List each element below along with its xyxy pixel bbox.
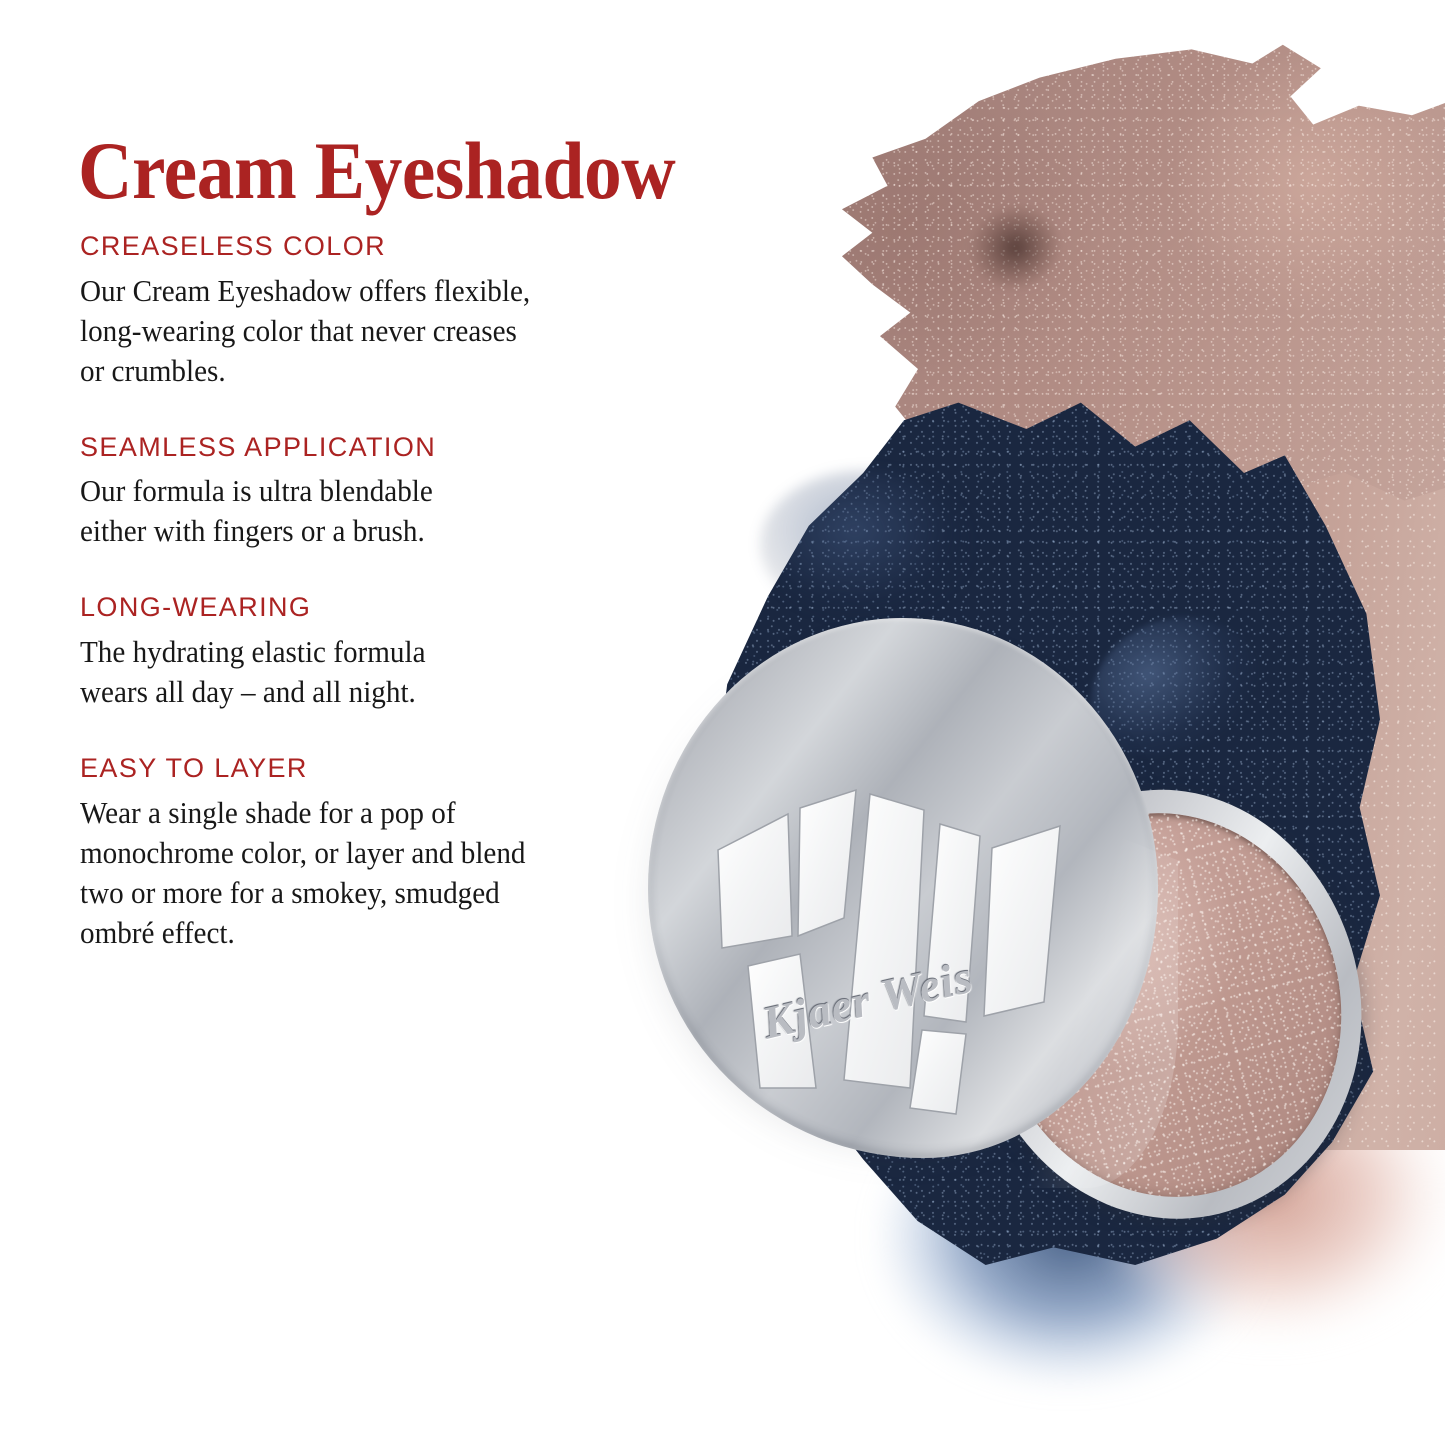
feature-body: The hydrating elastic formula wears all … bbox=[80, 632, 635, 712]
feature-body: Our formula is ultra blendable either wi… bbox=[80, 471, 635, 551]
rose-swatch-notch bbox=[949, 180, 1097, 322]
compact-lid-surface bbox=[648, 618, 1158, 1158]
brand-engraving: Kjaer Weis bbox=[757, 939, 1022, 1049]
feature-item-seamless-application: SEAMLESS APPLICATION Our formula is ultr… bbox=[80, 433, 670, 552]
feature-item-creaseless-color: CREASELESS COLOR Our Cream Eyeshadow off… bbox=[80, 232, 670, 391]
compact-lid-bevel bbox=[948, 768, 1178, 1188]
feature-heading: EASY TO LAYER bbox=[80, 754, 670, 784]
navy-swatch-ridge bbox=[1067, 592, 1278, 778]
feature-list: CREASELESS COLOR Our Cream Eyeshadow off… bbox=[80, 232, 670, 953]
page-title: Cream Eyeshadow bbox=[78, 130, 675, 212]
rose-gold-swatch bbox=[1180, 250, 1445, 1150]
feature-item-easy-to-layer: EASY TO LAYER Wear a single shade for a … bbox=[80, 754, 670, 953]
eyeshadow-pan bbox=[929, 750, 1407, 1260]
navy-swatch-bleed bbox=[880, 1120, 1300, 1445]
feature-body: Wear a single shade for a pop of monochr… bbox=[80, 793, 635, 953]
rose-swatch-bleed bbox=[1120, 1080, 1445, 1410]
eyeshadow-pan-product bbox=[953, 776, 1381, 1234]
navy-cream-swatch bbox=[700, 385, 1380, 1265]
feature-heading: SEAMLESS APPLICATION bbox=[80, 433, 670, 463]
silver-compact-lid: Kjaer Weis bbox=[648, 618, 1158, 1158]
feature-heading: CREASELESS COLOR bbox=[80, 232, 670, 262]
rose-cream-swatch bbox=[690, 40, 1445, 510]
navy-swatch-highlight bbox=[760, 470, 970, 620]
feature-heading: LONG-WEARING bbox=[80, 593, 670, 623]
feature-body: Our Cream Eyeshadow offers flexible, lon… bbox=[80, 271, 635, 391]
kw-monogram-icon bbox=[648, 618, 1158, 1158]
product-feature-page: Kjaer Weis Cream Eyeshadow CREASELESS CO… bbox=[0, 0, 1445, 1445]
compact-drop-shadow bbox=[640, 640, 1160, 1160]
feature-item-long-wearing: LONG-WEARING The hydrating elastic formu… bbox=[80, 593, 670, 712]
